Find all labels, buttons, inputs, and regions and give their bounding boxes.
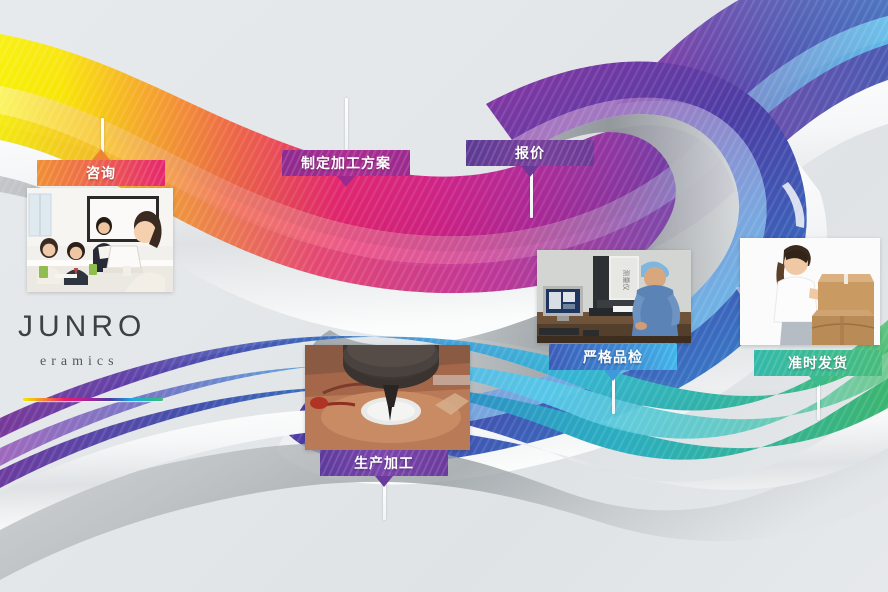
flag-pointer-production <box>375 476 393 487</box>
flag-bar-production: 生产加工 <box>320 450 448 476</box>
step-label-consult: 咨询 <box>86 163 116 183</box>
step-flag-production[interactable]: 生产加工 <box>320 450 448 476</box>
step-label-quote: 报价 <box>515 143 545 163</box>
flag-pointer-shipping <box>809 376 827 387</box>
step-flag-plan[interactable]: 制定加工方案 <box>282 150 410 176</box>
brand-name: JUNRO <box>18 312 198 342</box>
flag-pointer-consult <box>92 149 110 160</box>
photo-consultation-meeting <box>27 188 173 292</box>
brand-logo: JUNRO eramics <box>18 312 198 401</box>
photo-production-machining <box>305 345 470 450</box>
brand-gradient-rule <box>23 398 163 401</box>
flag-bar-quote: 报价 <box>466 140 594 166</box>
svg-text:测量仪: 测量仪 <box>622 270 630 291</box>
step-flag-quote[interactable]: 报价 <box>466 140 594 166</box>
flag-bar-plan: 制定加工方案 <box>282 150 410 176</box>
step-flag-inspection[interactable]: 严格品检 <box>549 344 677 370</box>
photo-quality-inspection: 测量仪 <box>537 250 691 343</box>
step-flag-shipping[interactable]: 准时发货 <box>754 350 882 376</box>
step-label-plan: 制定加工方案 <box>301 153 391 173</box>
brand-tagline: eramics <box>40 354 198 370</box>
process-flow-infographic: JUNRO eramics <box>0 0 888 592</box>
step-label-production: 生产加工 <box>354 453 414 473</box>
step-label-inspection: 严格品检 <box>583 347 643 367</box>
flag-bar-inspection: 严格品检 <box>549 344 677 370</box>
photo-shipping-packing <box>740 238 880 345</box>
flag-pointer-inspection <box>604 370 622 381</box>
flag-pointer-plan <box>337 176 355 187</box>
flag-bar-consult: 咨询 <box>37 160 165 186</box>
flag-bar-shipping: 准时发货 <box>754 350 882 376</box>
stem-plan <box>345 98 348 150</box>
step-label-shipping: 准时发货 <box>788 353 848 373</box>
step-flag-consult[interactable]: 咨询 <box>37 160 165 186</box>
flag-pointer-quote <box>521 166 539 177</box>
